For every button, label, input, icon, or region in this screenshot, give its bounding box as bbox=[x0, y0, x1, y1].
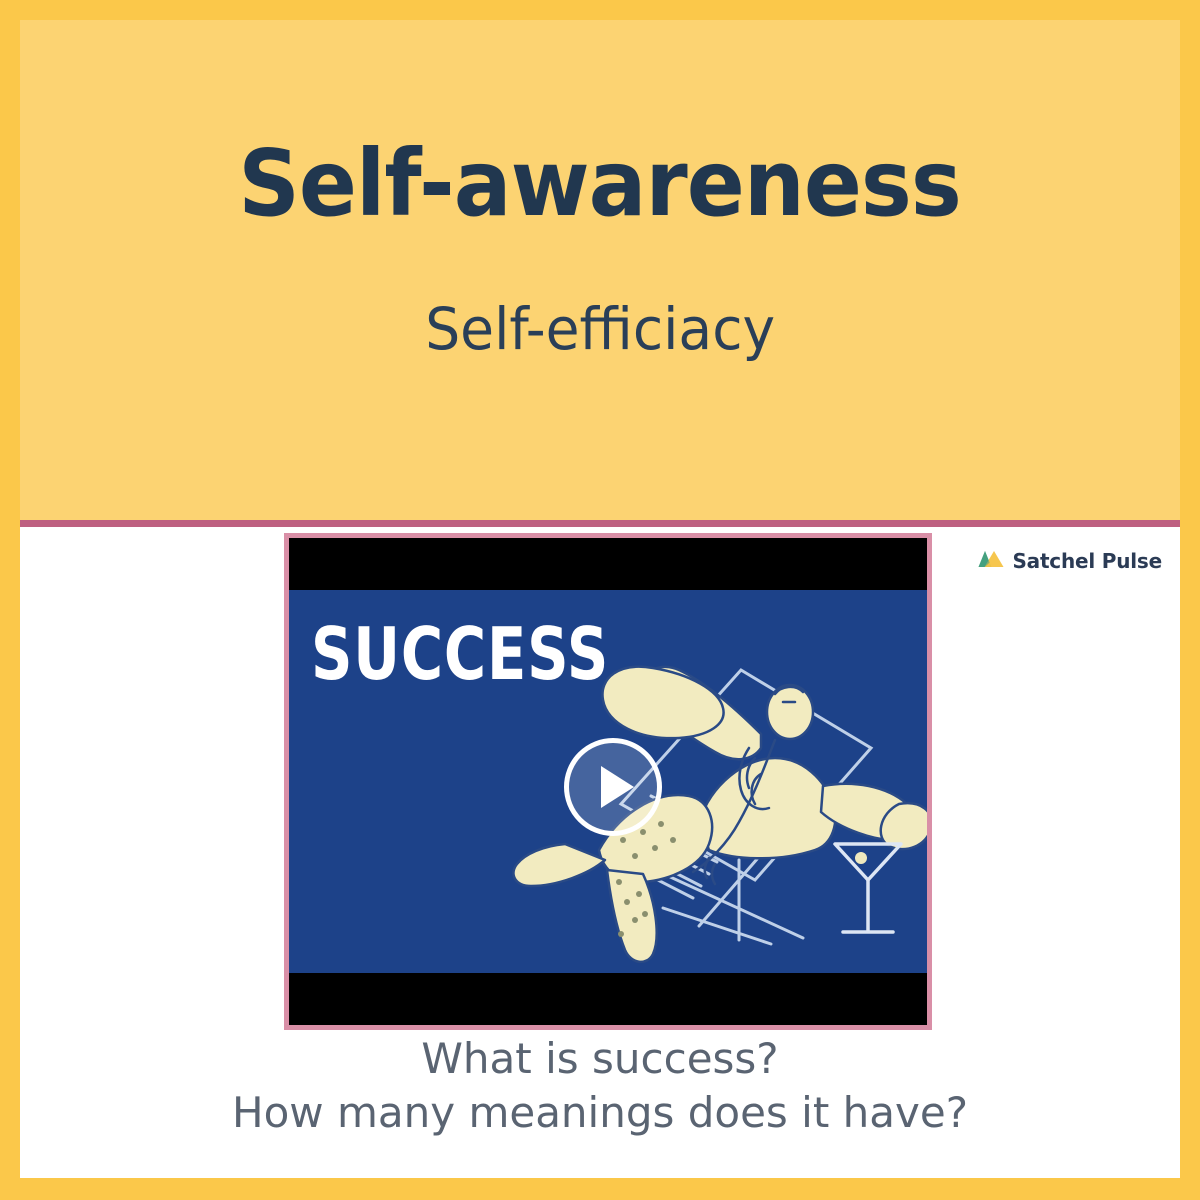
twin-triangles-logo-icon bbox=[978, 550, 1004, 573]
brand-name: Satchel Pulse bbox=[1012, 549, 1162, 573]
hero-section: Self-awareness Self-efficiacy bbox=[20, 20, 1180, 520]
video-frame: SUCCESS bbox=[289, 538, 927, 1025]
content-section: Satchel Pulse SUCCESS bbox=[20, 527, 1180, 1178]
caption-line-2: How many meanings does it have? bbox=[20, 1086, 1180, 1140]
page-title: Self-awareness bbox=[239, 20, 962, 230]
page-subtitle: Self-efficiacy bbox=[425, 230, 775, 358]
slide-card: Self-awareness Self-efficiacy Satchel Pu… bbox=[0, 0, 1200, 1200]
video-caption: What is success? How many meanings does … bbox=[20, 1032, 1180, 1140]
play-triangle-icon bbox=[601, 766, 634, 808]
caption-line-1: What is success? bbox=[20, 1032, 1180, 1086]
video-thumbnail[interactable]: SUCCESS bbox=[284, 533, 932, 1030]
section-divider bbox=[20, 520, 1180, 527]
martini-glass-icon bbox=[835, 844, 901, 932]
play-icon[interactable] bbox=[564, 738, 662, 836]
video-stage: SUCCESS bbox=[289, 590, 927, 973]
brand-logo: Satchel Pulse bbox=[978, 549, 1162, 573]
